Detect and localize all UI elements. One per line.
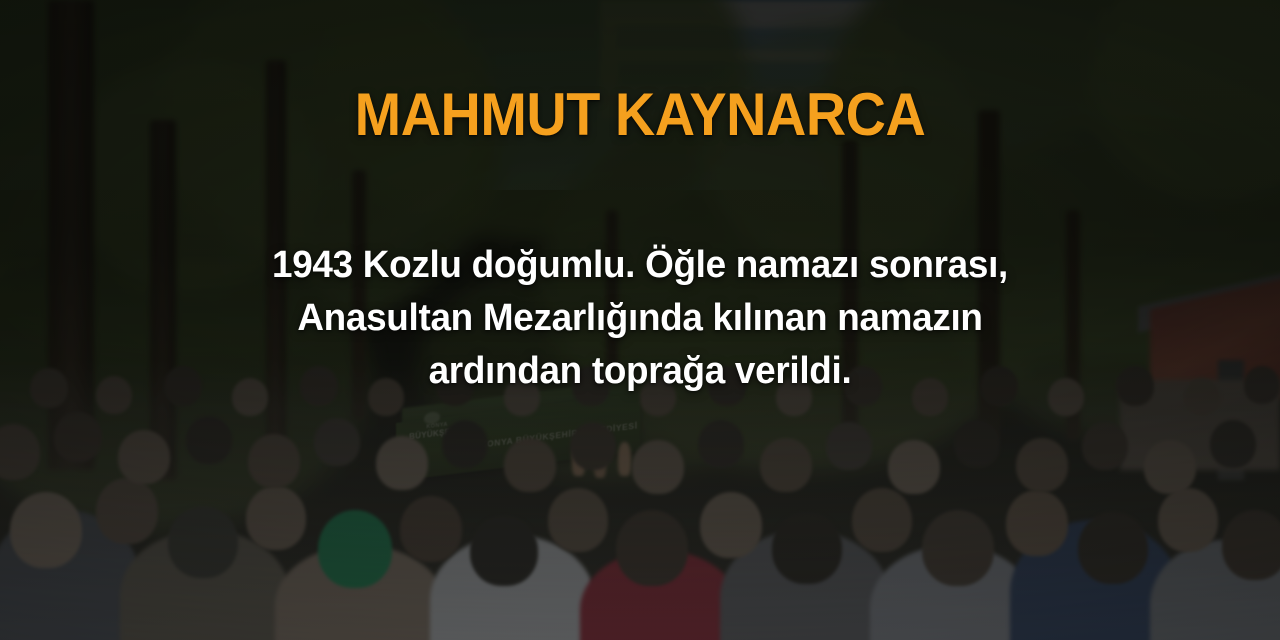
page-title: MAHMUT KAYNARCA xyxy=(45,84,1235,146)
obituary-banner: KONYA BÜYÜKŞEHİR KONYA BÜYÜKŞEHİR BELEDİ… xyxy=(0,0,1280,640)
description: 1943 Kozlu doğumlu. Öğle namazı sonrası,… xyxy=(155,239,1125,398)
description-line-2: Anasultan Mezarlığında kılınan namazın xyxy=(155,292,1125,345)
text-overlay: MAHMUT KAYNARCA 1943 Kozlu doğumlu. Öğle… xyxy=(0,0,1280,640)
description-line-1: 1943 Kozlu doğumlu. Öğle namazı sonrası, xyxy=(155,239,1125,292)
description-line-3: ardından toprağa verildi. xyxy=(155,345,1125,398)
